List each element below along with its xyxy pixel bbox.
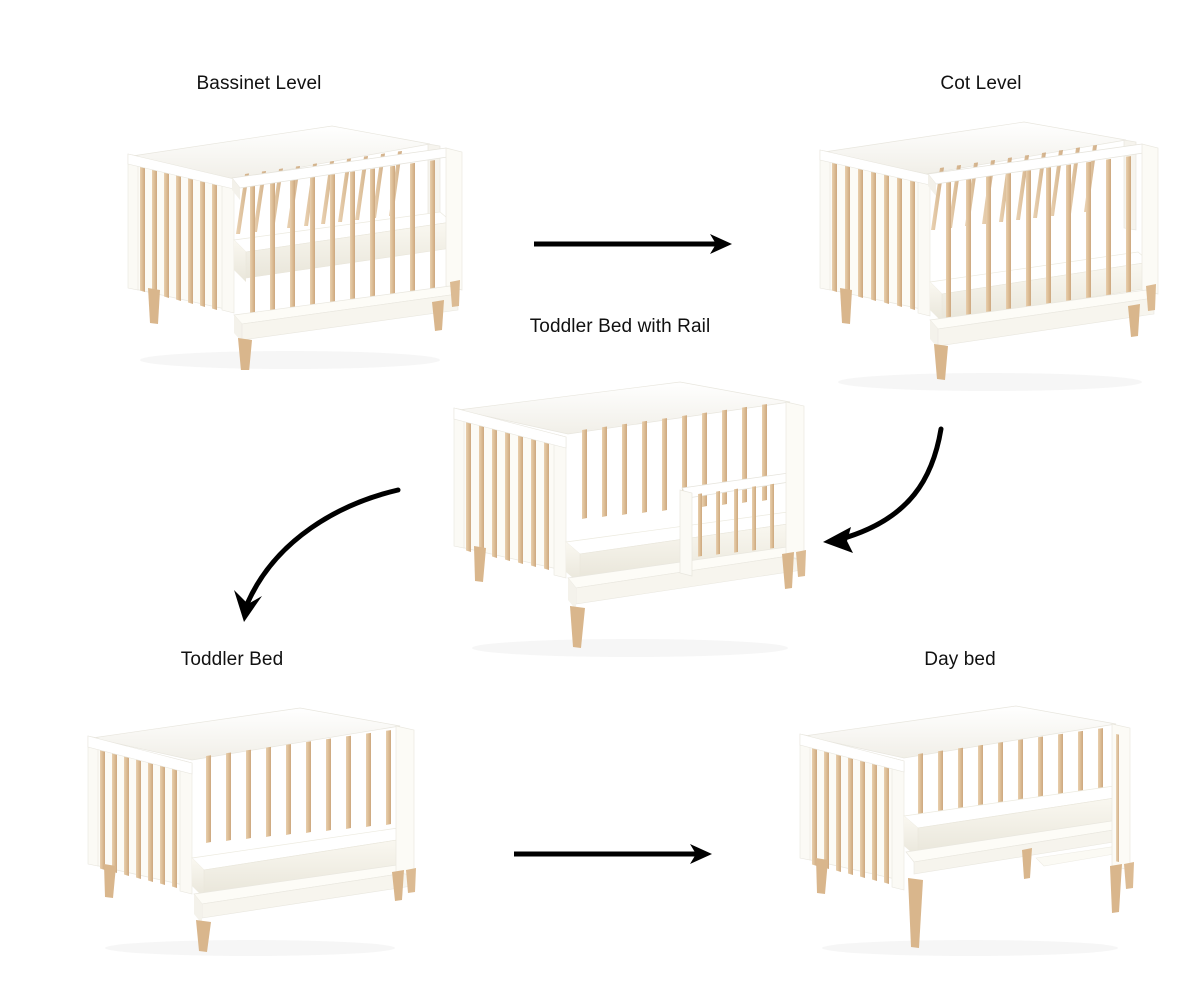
arrow-shaft	[248, 490, 398, 602]
bed-leg-front-left	[908, 878, 923, 948]
crib-illustration-bassinet-level	[110, 110, 470, 370]
bed-shadow	[105, 940, 395, 956]
diagram-canvas: Bassinet Level Cot Level Toddler Bed wit…	[0, 0, 1200, 1000]
arrow-head	[234, 590, 262, 622]
crib-leg-front-right	[432, 300, 444, 331]
arrow-bassinet-to-cot	[530, 230, 740, 262]
crib-left-corner-post	[820, 150, 830, 290]
bed-left-corner-post	[88, 736, 98, 866]
crib-left-corner-post	[128, 154, 138, 290]
bed-right-end-panel	[1112, 724, 1130, 870]
crib-illustration-toddler-bed	[70, 690, 420, 960]
stage-label-toddler-bed-with-rail: Toddler Bed with Rail	[530, 317, 711, 336]
crib-leg-back-left	[148, 288, 160, 324]
crib-left-front-post	[918, 172, 930, 316]
bed-right-end-panel	[396, 726, 414, 876]
stage-label-toddler-bed: Toddler Bed	[181, 650, 284, 669]
bed-leg-back-right	[1124, 862, 1134, 889]
crib-right-end-panel	[1142, 144, 1158, 294]
bed-leg-front-right	[782, 552, 794, 589]
crib-shadow	[472, 639, 788, 657]
bed-left-front-post	[892, 758, 904, 890]
bed-leg-back-left	[474, 546, 486, 582]
bed-leg-back-left	[816, 858, 828, 894]
bed-leg-front-right	[1110, 864, 1122, 913]
crib-leg-front-right	[1128, 304, 1140, 337]
arrow-cot-to-toddler-bed-with-rail	[805, 415, 965, 565]
crib-shadow	[140, 351, 440, 369]
arrow-shaft	[841, 429, 941, 539]
stage-label-day-bed: Day bed	[924, 650, 995, 669]
stage-label-bassinet-level: Bassinet Level	[197, 74, 322, 93]
bed-leg-back-right	[406, 868, 416, 893]
crib-illustration-cot-level	[800, 110, 1170, 395]
arrow-toddler-bed-to-day-bed	[510, 840, 720, 872]
arrow-toddler-bed-with-rail-to-toddler-bed	[228, 478, 413, 633]
arrow-head	[823, 527, 853, 553]
bed-shadow	[822, 940, 1118, 956]
crib-shadow	[838, 373, 1142, 391]
bed-right-end-panel	[786, 402, 804, 560]
bed-left-corner-post	[454, 408, 464, 548]
crib-right-end-panel	[446, 148, 462, 290]
bed-right-end-slats	[1116, 734, 1119, 862]
crib-illustration-toddler-bed-with-rail	[430, 360, 820, 660]
crib-left-front-post	[222, 176, 234, 313]
bed-leg-center-support	[1022, 848, 1032, 879]
crib-illustration-day-bed	[780, 690, 1150, 960]
bed-guard-rail-left-post	[680, 490, 692, 576]
stage-label-cot-level: Cot Level	[940, 74, 1021, 93]
bed-left-corner-post	[800, 734, 810, 860]
crib-leg-back-left	[840, 288, 852, 324]
bed-left-front-post	[554, 434, 566, 578]
bed-leg-back-left	[104, 864, 116, 898]
bed-left-front-post	[180, 760, 192, 894]
bed-leg-front-right	[392, 870, 404, 901]
